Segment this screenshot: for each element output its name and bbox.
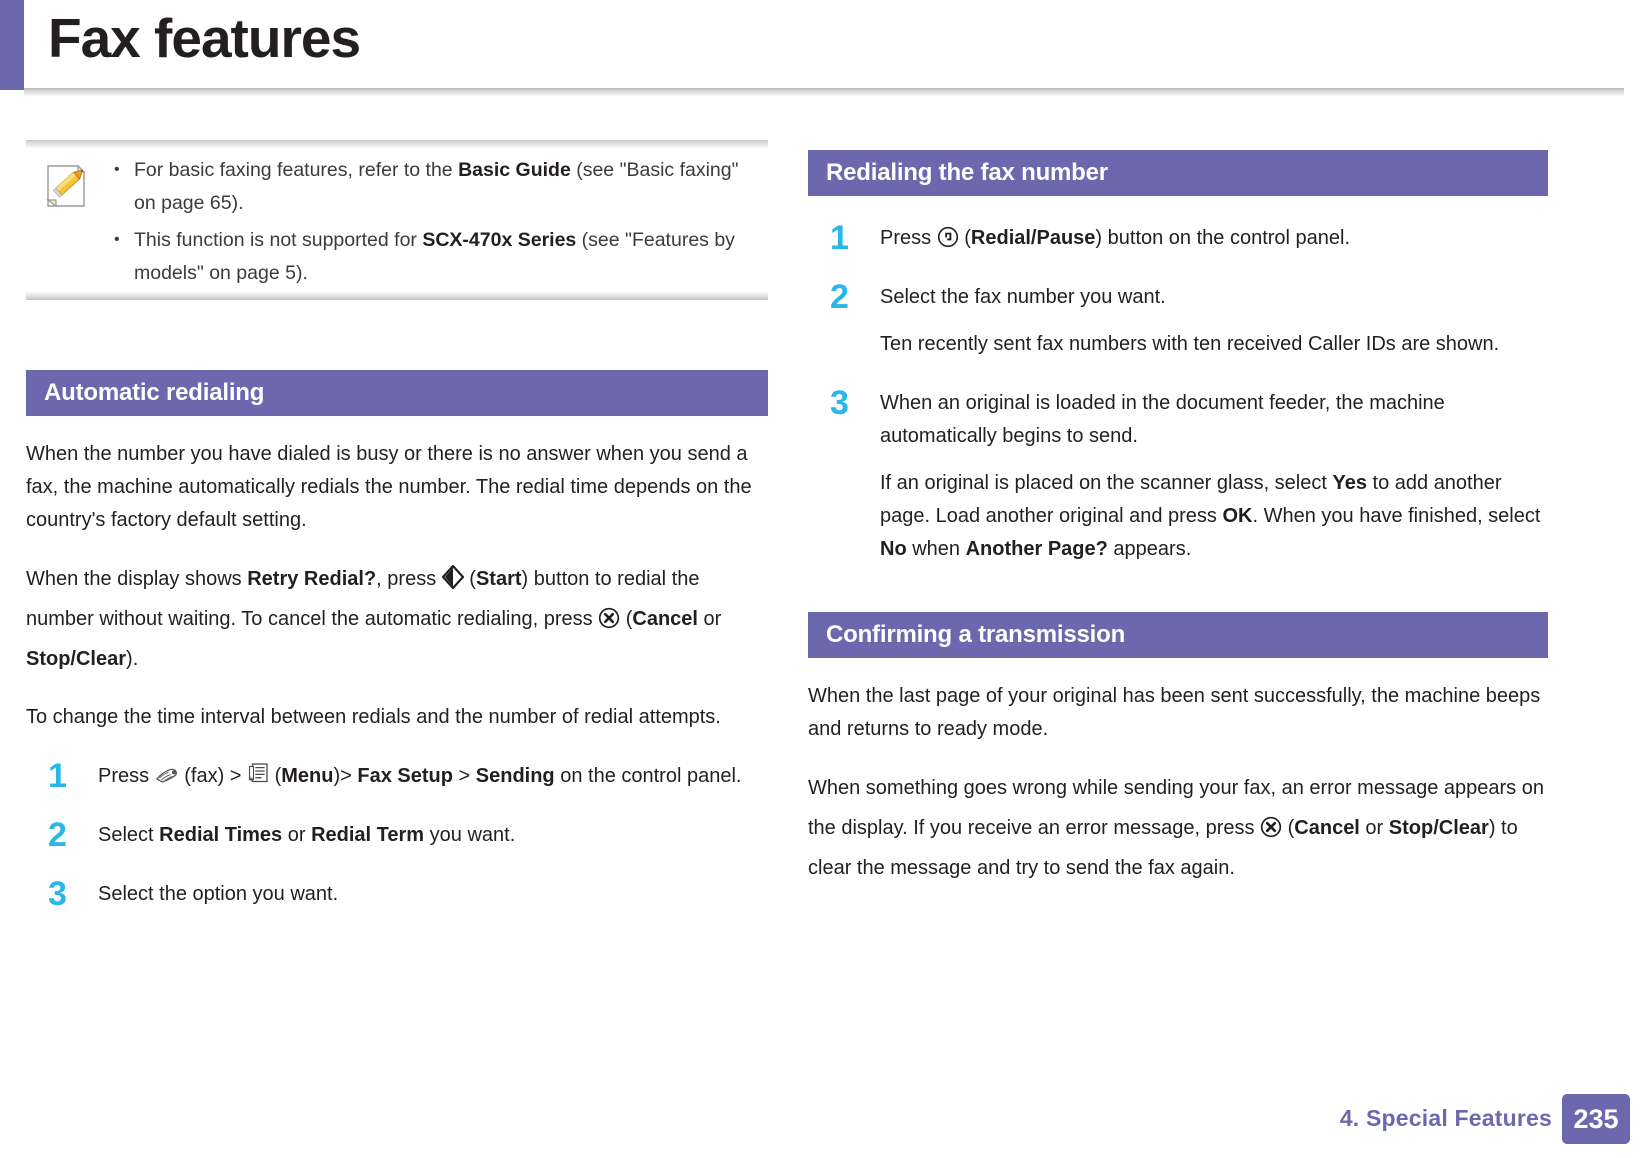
l1-text-1: Press <box>98 765 155 787</box>
left-step-3-number: 3 <box>48 874 67 914</box>
left-step-2-number: 2 <box>48 815 67 855</box>
menu-label: Menu <box>281 765 333 787</box>
paragraph-retry-redial: When the display shows Retry Redial?, pr… <box>26 559 768 679</box>
rc-text-2: ( <box>1282 817 1294 839</box>
redial-term-label: Redial Term <box>311 824 424 846</box>
cancel-x-circle-icon <box>598 607 620 629</box>
right-step-2-number: 2 <box>830 277 849 317</box>
page-footer: 4. Special Features 235 <box>0 1088 1650 1158</box>
right-step-1: 1 Press (Redial/Pause) button on the con… <box>808 222 1548 255</box>
start-diamond-icon <box>442 565 464 589</box>
note-bottom-divider <box>26 291 768 300</box>
ok-label: OK <box>1222 505 1252 527</box>
right-steps-list: 1 Press (Redial/Pause) button on the con… <box>808 222 1548 566</box>
left-step-2-text: Select Redial Times or Redial Term you w… <box>98 819 768 852</box>
r1-text-2: ( <box>959 227 971 249</box>
stop-clear-label: Stop/Clear <box>26 648 126 670</box>
paragraph-auto-redial-intro: When the number you have dialed is busy … <box>26 438 768 537</box>
cancel-x-circle-icon <box>1260 816 1282 838</box>
r3-text-1: If an original is placed on the scanner … <box>880 472 1332 494</box>
l2-text-1: Select <box>98 824 159 846</box>
left-step-2: 2 Select Redial Times or Redial Term you… <box>26 819 768 852</box>
redial-pause-icon <box>937 226 959 248</box>
l1-text-6: on the control panel. <box>555 765 742 787</box>
fax-setup-label: Fax Setup <box>357 765 453 787</box>
footer-chapter-label: 4. Special Features <box>1340 1105 1552 1132</box>
note-item-1-bold: Basic Guide <box>458 159 571 181</box>
stop-clear-label-2: Stop/Clear <box>1389 817 1489 839</box>
right-step-2-text: Select the fax number you want. <box>880 281 1548 314</box>
right-step-3-subtext: If an original is placed on the scanner … <box>880 467 1548 566</box>
left-step-1: 1 Press (fax) > * (Menu)> Fax Setup > Se… <box>26 760 768 793</box>
retry-text-7: ). <box>126 648 138 670</box>
r1-text-3: ) button on the control panel. <box>1095 227 1350 249</box>
r3-text-5: appears. <box>1108 538 1191 560</box>
right-step-3-text: When an original is loaded in the docume… <box>880 387 1548 453</box>
retry-text-5: ( <box>620 608 632 630</box>
cancel-label-2: Cancel <box>1294 817 1360 839</box>
section-header-automatic-redialing: Automatic redialing <box>26 370 768 416</box>
r3-text-3: . When you have finished, select <box>1252 505 1540 527</box>
note-list: For basic faxing features, refer to the … <box>112 154 762 294</box>
start-label: Start <box>476 568 522 590</box>
right-column: Redialing the fax number 1 Press (Redial… <box>808 150 1548 888</box>
sending-label: Sending <box>476 765 555 787</box>
right-step-2: 2 Select the fax number you want. Ten re… <box>808 281 1548 361</box>
retry-text-1: When the display shows <box>26 568 247 590</box>
left-step-1-text: Press (fax) > * (Menu)> Fax Setup > Send… <box>98 760 768 793</box>
right-step-3-number: 3 <box>830 383 849 423</box>
left-step-1-number: 1 <box>48 756 67 796</box>
l1-text-3: ( <box>269 765 281 787</box>
page-header: Fax features <box>0 0 1650 92</box>
note-pencil-icon <box>42 162 90 210</box>
note-item-2: This function is not supported for SCX-4… <box>112 224 762 290</box>
no-label: No <box>880 538 907 560</box>
menu-list-icon: * <box>247 762 269 786</box>
section-header-confirming-a-transmission: Confirming a transmission <box>808 612 1548 658</box>
r1-text-1: Press <box>880 227 937 249</box>
redial-pause-label: Redial/Pause <box>971 227 1096 249</box>
note-top-divider <box>26 140 768 149</box>
paragraph-change-interval: To change the time interval between redi… <box>26 701 768 734</box>
note-item-2-text-a: This function is not supported for <box>134 229 422 251</box>
page-title: Fax features <box>48 2 360 74</box>
fax-handset-icon <box>155 764 179 786</box>
svg-text:*: * <box>248 775 254 786</box>
l2-text-2: or <box>282 824 311 846</box>
paragraph-confirm-error: When something goes wrong while sending … <box>808 768 1548 888</box>
retry-redial-label: Retry Redial? <box>247 568 376 590</box>
right-step-2-subtext: Ten recently sent fax numbers with ten r… <box>880 328 1548 361</box>
section-header-redialing-the-fax-number: Redialing the fax number <box>808 150 1548 196</box>
cancel-label: Cancel <box>632 608 698 630</box>
l1-text-2: (fax) > <box>179 765 247 787</box>
title-divider <box>24 88 1624 97</box>
left-steps-list: 1 Press (fax) > * (Menu)> Fax Setup > Se… <box>26 760 768 911</box>
right-step-1-text: Press (Redial/Pause) button on the contr… <box>880 222 1548 255</box>
paragraph-confirm-success: When the last page of your original has … <box>808 680 1548 746</box>
another-page-label: Another Page? <box>966 538 1108 560</box>
left-column: Automatic redialing When the number you … <box>26 370 768 937</box>
left-step-3-text: Select the option you want. <box>98 878 768 911</box>
right-step-3: 3 When an original is loaded in the docu… <box>808 387 1548 566</box>
title-accent-bar <box>0 0 24 90</box>
l1-text-4: )> <box>333 765 357 787</box>
right-step-1-number: 1 <box>830 218 849 258</box>
left-step-3: 3 Select the option you want. <box>26 878 768 911</box>
r3-text-4: when <box>907 538 966 560</box>
rc-text-3: or <box>1360 817 1389 839</box>
retry-text-3: ( <box>464 568 476 590</box>
note-item-1: For basic faxing features, refer to the … <box>112 154 762 220</box>
note-callout: For basic faxing features, refer to the … <box>26 140 768 300</box>
l2-text-3: you want. <box>424 824 515 846</box>
retry-text-2: , press <box>376 568 442 590</box>
redial-times-label: Redial Times <box>159 824 282 846</box>
retry-text-6: or <box>698 608 721 630</box>
note-item-1-text-a: For basic faxing features, refer to the <box>134 159 458 181</box>
l1-text-5: > <box>453 765 476 787</box>
note-item-2-bold: SCX-470x Series <box>422 229 576 251</box>
footer-page-number: 235 <box>1562 1094 1630 1144</box>
yes-label: Yes <box>1332 472 1366 494</box>
